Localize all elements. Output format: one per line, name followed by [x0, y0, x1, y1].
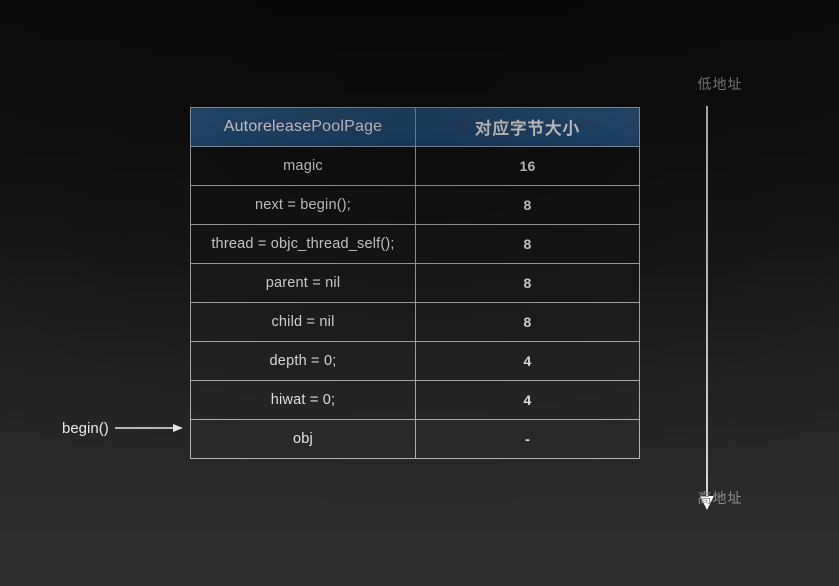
- cell-field-name: thread = objc_thread_self();: [191, 225, 416, 264]
- cell-field-name: depth = 0;: [191, 342, 416, 381]
- table-row: next = begin(); 8: [191, 186, 640, 225]
- cell-field-name: child = nil: [191, 303, 416, 342]
- autoreleasepoolpage-layout-table: AutoreleasePoolPage 对应字节大小 magic 16 next…: [190, 107, 640, 459]
- cell-byte-size: 4: [416, 381, 640, 420]
- cell-byte-size: 16: [416, 147, 640, 186]
- table-row: parent = nil 8: [191, 264, 640, 303]
- cell-byte-size: 8: [416, 186, 640, 225]
- cell-field-name: parent = nil: [191, 264, 416, 303]
- table-row: child = nil 8: [191, 303, 640, 342]
- cell-byte-size: 8: [416, 303, 640, 342]
- cell-byte-size: 8: [416, 225, 640, 264]
- begin-annotation: begin(): [62, 415, 192, 441]
- column-header-byte-size: 对应字节大小: [416, 108, 640, 147]
- table-body: magic 16 next = begin(); 8 thread = objc…: [191, 147, 640, 459]
- table-header-row: AutoreleasePoolPage 对应字节大小: [191, 108, 640, 147]
- begin-label: begin(): [62, 420, 109, 437]
- table-row: thread = objc_thread_self(); 8: [191, 225, 640, 264]
- table-row: depth = 0; 4: [191, 342, 640, 381]
- begin-pointer-arrow-icon: [115, 421, 183, 435]
- slide-canvas: AutoreleasePoolPage 对应字节大小 magic 16 next…: [0, 0, 839, 586]
- column-header-structure-name: AutoreleasePoolPage: [191, 108, 416, 147]
- low-address-label: 低地址: [660, 74, 780, 94]
- cell-field-name: magic: [191, 147, 416, 186]
- cell-byte-size: 4: [416, 342, 640, 381]
- high-address-label: 高地址: [660, 488, 780, 508]
- table-row: magic 16: [191, 147, 640, 186]
- table-row: obj -: [191, 420, 640, 459]
- cell-field-name: obj: [191, 420, 416, 459]
- cell-field-name: next = begin();: [191, 186, 416, 225]
- cell-byte-size: 8: [416, 264, 640, 303]
- cell-byte-size: -: [416, 420, 640, 459]
- downward-address-arrow-icon: [660, 106, 780, 516]
- table-header: AutoreleasePoolPage 对应字节大小: [191, 108, 640, 147]
- address-direction-axis: 低地址 高地址: [660, 68, 780, 508]
- cell-field-name: hiwat = 0;: [191, 381, 416, 420]
- table-row: hiwat = 0; 4: [191, 381, 640, 420]
